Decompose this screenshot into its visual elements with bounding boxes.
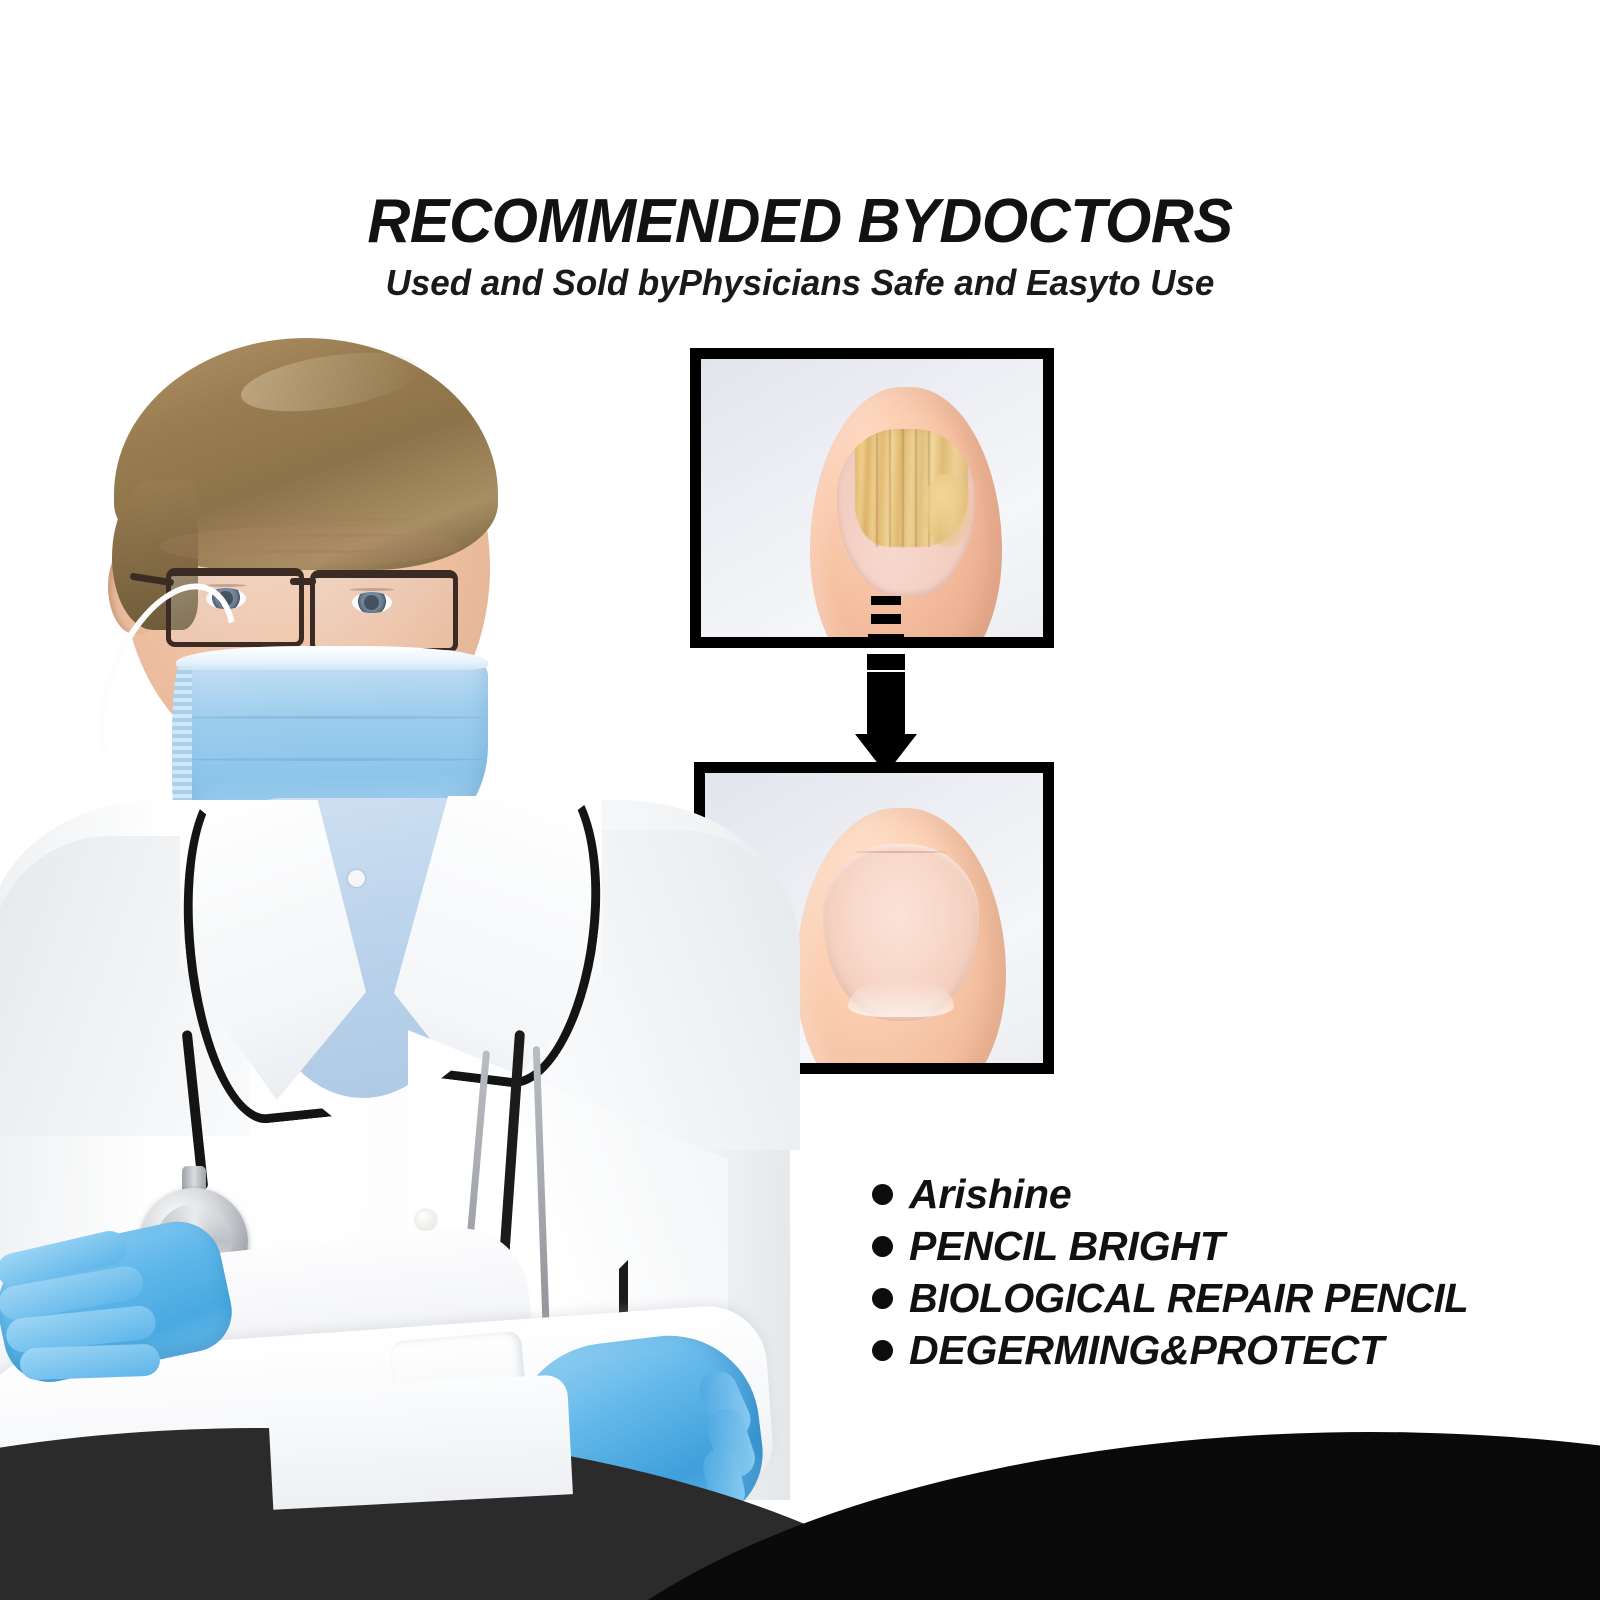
bullet-icon <box>872 1340 893 1361</box>
page-subtitle: Used and Sold byPhysicians Safe and Easy… <box>24 262 1576 304</box>
nail-edge <box>854 851 947 853</box>
forehead-wrinkle <box>206 534 406 537</box>
mask-pleat <box>180 716 484 719</box>
forehead-shading <box>160 526 460 566</box>
doctor-photo <box>0 330 810 1490</box>
mask-pleat <box>180 758 484 761</box>
nail-lunula <box>848 979 953 1018</box>
arrow-dash-1 <box>871 596 901 605</box>
nail-plate-infected <box>837 429 975 597</box>
list-item: DEGERMING&PROTECT <box>872 1324 1592 1376</box>
feature-label: PENCIL BRIGHT <box>909 1223 1225 1270</box>
forehead-wrinkle <box>214 550 398 553</box>
arrow-dash-3 <box>868 634 904 646</box>
nail-plate-healthy <box>823 844 978 1021</box>
page-title: RECOMMENDED BYDOCTORS <box>32 186 1568 257</box>
bullet-icon <box>872 1184 893 1205</box>
bullet-icon <box>872 1236 893 1257</box>
arrow-shaft <box>867 672 905 738</box>
list-item: Arishine <box>872 1168 1592 1220</box>
glove-finger <box>19 1344 160 1381</box>
feature-label: Arishine <box>909 1171 1071 1218</box>
poster-canvas: RECOMMENDED BYDOCTORS Used and Sold byPh… <box>0 0 1600 1600</box>
feature-list: Arishine PENCIL BRIGHT BIOLOGICAL REPAIR… <box>872 1168 1592 1376</box>
feature-label: BIOLOGICAL REPAIR PENCIL <box>909 1275 1469 1322</box>
feature-label: DEGERMING&PROTECT <box>909 1327 1384 1374</box>
list-item: BIOLOGICAL REPAIR PENCIL <box>872 1272 1592 1324</box>
bullet-icon <box>872 1288 893 1309</box>
forehead-wrinkle <box>200 518 414 521</box>
arrow-dash-2 <box>871 614 901 624</box>
fungal-discoloration <box>855 429 968 547</box>
arrow-dash-4 <box>867 654 905 670</box>
coat-overlap-swoosh <box>267 1374 573 1510</box>
downward-transformation-arrow <box>856 596 916 772</box>
glasses-bridge <box>290 578 316 585</box>
glasses-lens-right <box>310 570 458 653</box>
coat-button <box>416 1210 436 1230</box>
shirt-button <box>348 870 365 887</box>
list-item: PENCIL BRIGHT <box>872 1220 1592 1272</box>
